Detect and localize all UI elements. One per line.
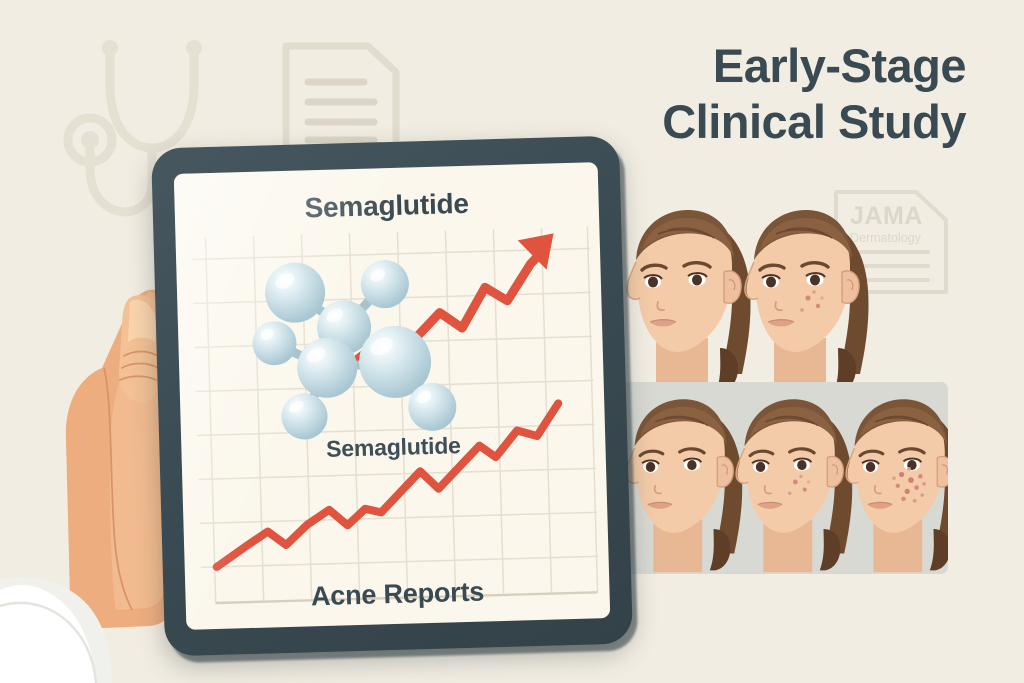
face-acne	[745, 210, 869, 394]
page-title: Early-Stage Clinical Study	[662, 38, 966, 151]
chart-arrowhead	[518, 233, 555, 270]
title-line-1: Early-Stage	[713, 39, 966, 92]
face-progression-mild	[736, 399, 852, 572]
screen-title: Semaglutide	[174, 184, 599, 228]
tablet-screen[interactable]: Semaglutide	[174, 162, 611, 630]
title-line-2: Clinical Study	[662, 94, 966, 150]
semaglutide-molecule-diagram	[232, 239, 487, 446]
tablet-device[interactable]: Semaglutide	[151, 136, 633, 657]
face-comparison-top	[612, 198, 878, 394]
tablet-frame: Semaglutide	[151, 136, 633, 657]
face-progression-panel	[618, 382, 948, 574]
face-progression-clear	[626, 399, 742, 572]
face-clear	[627, 210, 751, 394]
illustration-canvas: JAMA Dermatology Early-Stage Clinical St…	[0, 0, 1024, 683]
face-progression-severe	[846, 399, 948, 572]
